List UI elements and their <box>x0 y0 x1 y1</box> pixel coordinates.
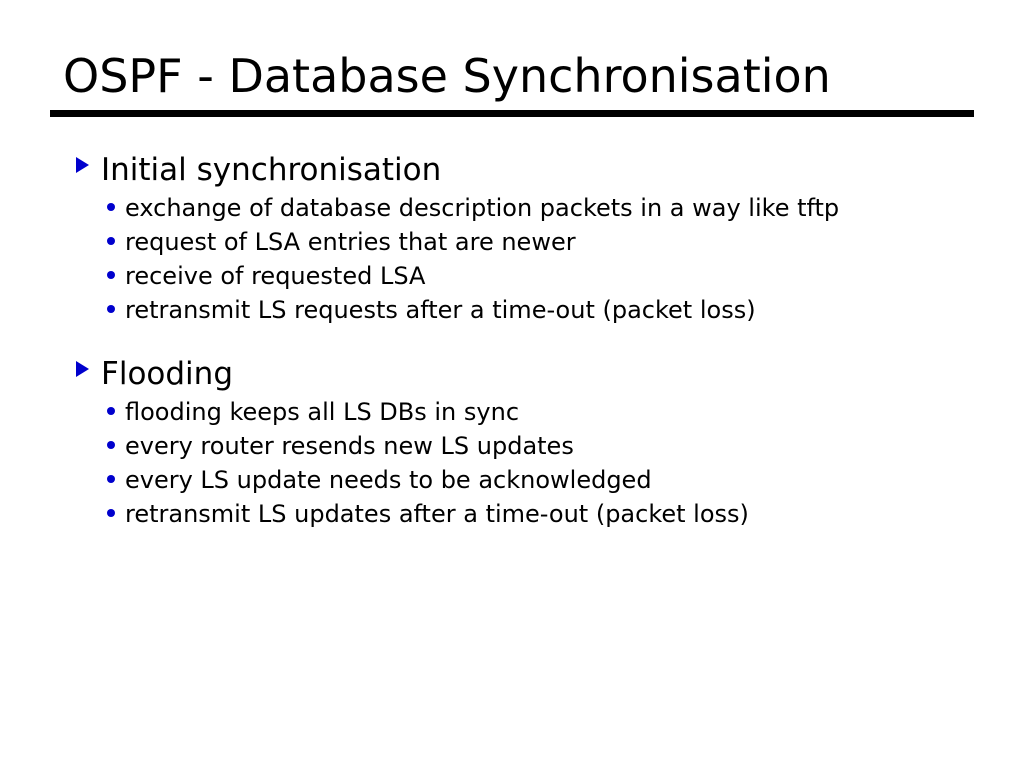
list-item: every router resends new LS updates <box>0 434 1024 468</box>
round-bullet-icon <box>107 509 115 517</box>
round-bullet-icon <box>107 305 115 313</box>
list-item: every LS update needs to be acknowledged <box>0 468 1024 502</box>
list-item-label: flooding keeps all LS DBs in sync <box>125 400 519 424</box>
round-bullet-icon <box>107 237 115 245</box>
title-underline-rule <box>50 110 974 117</box>
list-item: receive of requested LSA <box>0 264 1024 298</box>
triangle-right-bullet-icon <box>76 157 89 173</box>
round-bullet-icon <box>107 407 115 415</box>
section-bullet-list: flooding keeps all LS DBs in sync every … <box>0 400 1024 536</box>
list-item-label: every router resends new LS updates <box>125 434 574 458</box>
round-bullet-icon <box>107 271 115 279</box>
section-heading-row: Flooding <box>0 359 1024 400</box>
title-block: OSPF - Database Synchronisation <box>50 48 974 104</box>
section-heading-row: Initial synchronisation <box>0 155 1024 196</box>
round-bullet-icon <box>107 441 115 449</box>
section-initial-synchronisation: Initial synchronisation exchange of data… <box>0 155 1024 332</box>
triangle-right-bullet-icon <box>76 361 89 377</box>
section-heading-label: Flooding <box>101 359 233 390</box>
list-item-label: request of LSA entries that are newer <box>125 230 576 254</box>
list-item-label: exchange of database description packets… <box>125 196 839 220</box>
slide-body: Initial synchronisation exchange of data… <box>0 155 1024 536</box>
list-item: exchange of database description packets… <box>0 196 1024 230</box>
list-item-label: retransmit LS updates after a time-out (… <box>125 502 749 526</box>
list-item: retransmit LS updates after a time-out (… <box>0 502 1024 536</box>
page-title: OSPF - Database Synchronisation <box>50 48 974 104</box>
section-bullet-list: exchange of database description packets… <box>0 196 1024 332</box>
list-item-label: every LS update needs to be acknowledged <box>125 468 652 492</box>
list-item-label: receive of requested LSA <box>125 264 425 288</box>
round-bullet-icon <box>107 203 115 211</box>
slide-canvas: OSPF - Database Synchronisation Initial … <box>0 0 1024 768</box>
section-heading-label: Initial synchronisation <box>101 155 441 186</box>
list-item-label: retransmit LS requests after a time-out … <box>125 298 756 322</box>
list-item: flooding keeps all LS DBs in sync <box>0 400 1024 434</box>
section-flooding: Flooding flooding keeps all LS DBs in sy… <box>0 359 1024 536</box>
list-item: request of LSA entries that are newer <box>0 230 1024 264</box>
list-item: retransmit LS requests after a time-out … <box>0 298 1024 332</box>
round-bullet-icon <box>107 475 115 483</box>
